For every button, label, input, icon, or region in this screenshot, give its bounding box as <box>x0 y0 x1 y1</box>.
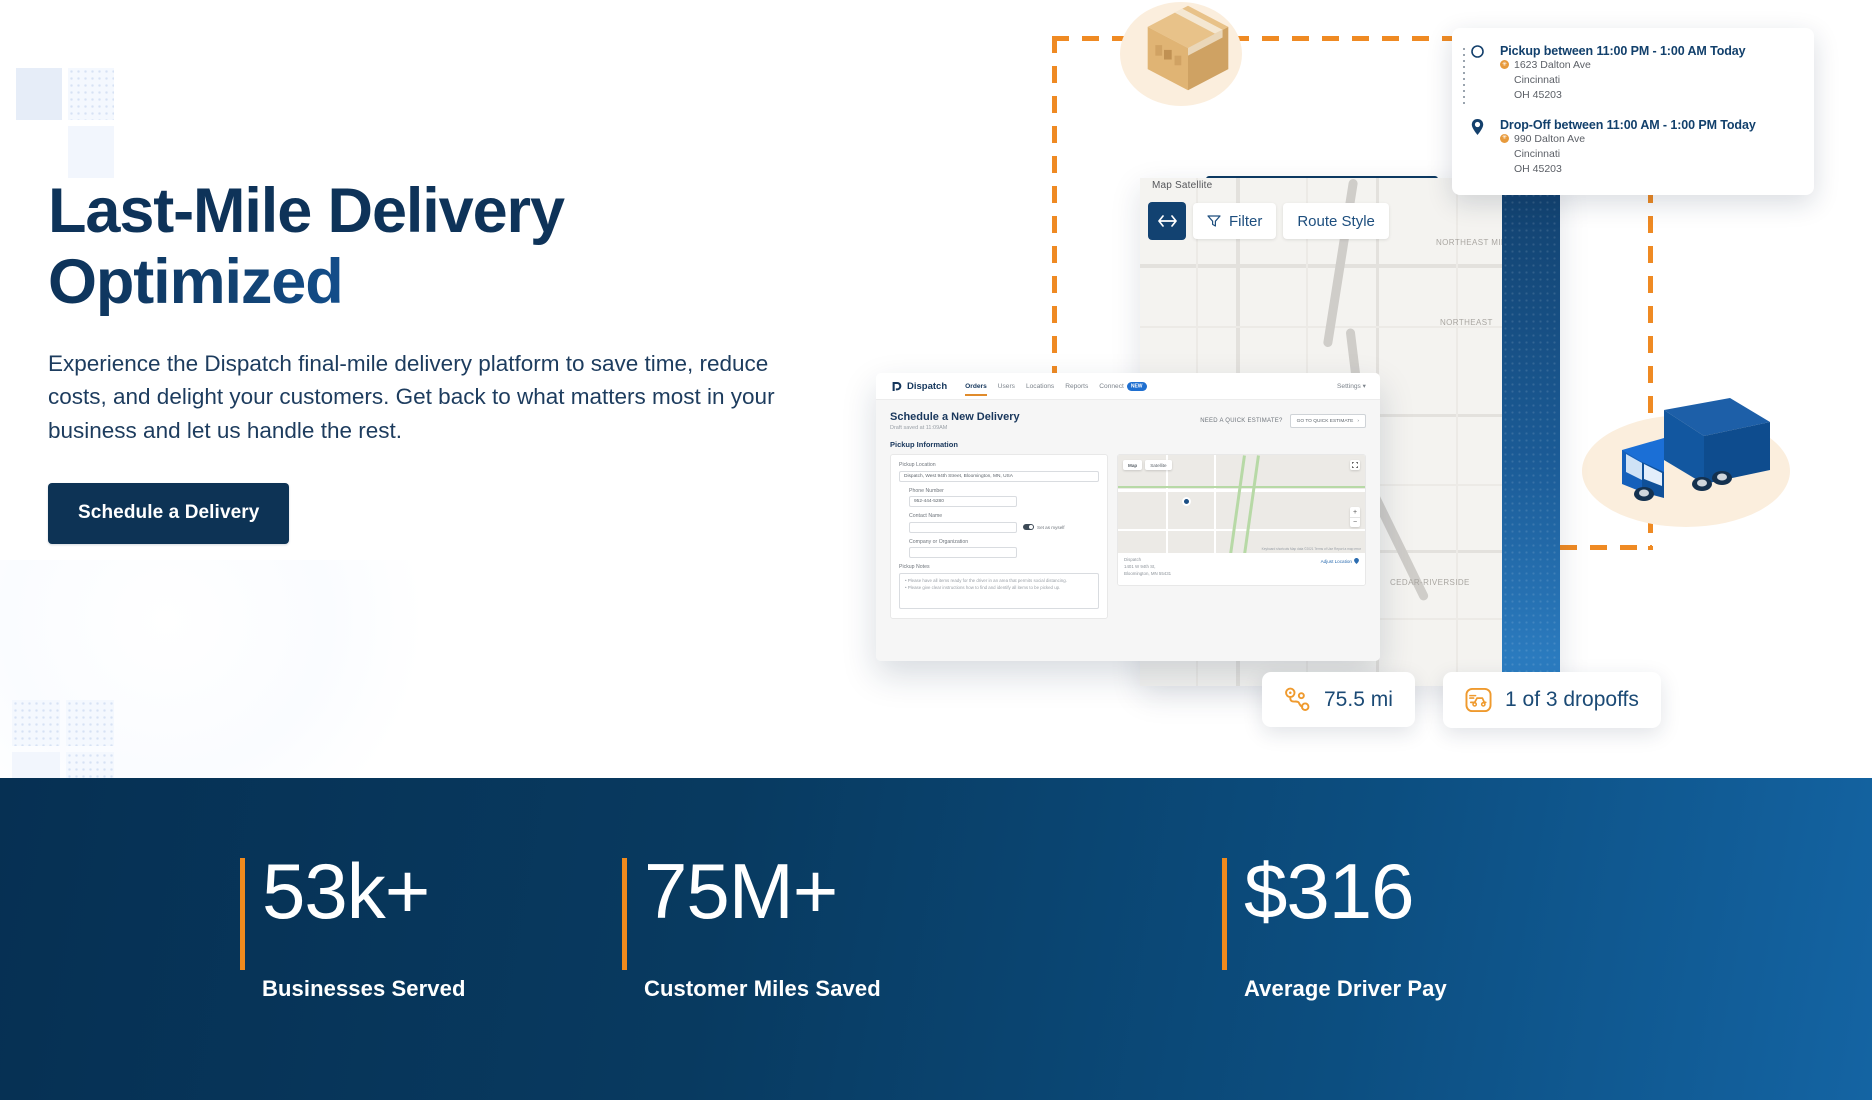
map-road <box>1140 264 1560 268</box>
pickup-title: Pickup between 11:00 PM - 1:00 AM Today <box>1500 44 1796 58</box>
pickup-row: Pickup between 11:00 PM - 1:00 AM Today … <box>1468 44 1796 104</box>
map-pin-icon <box>1354 558 1359 564</box>
dropoffs-value: 1 of 3 dropoffs <box>1505 688 1639 712</box>
decorative-square-dotted <box>12 700 60 746</box>
draft-saved-status: Draft saved at 11:09AM <box>890 425 1020 431</box>
pickup-location-mini-map[interactable]: Map Satellite + − Keyboard shortcuts Map… <box>1117 454 1366 586</box>
delivery-van-icon <box>1465 687 1492 713</box>
address-marker-icon: ✳ <box>1500 134 1509 143</box>
chevron-right-icon: › <box>1357 419 1359 424</box>
decorative-square-dotted <box>66 752 114 778</box>
dropoff-row: Drop-Off between 11:00 AM - 1:00 PM Toda… <box>1468 118 1796 178</box>
pickup-state-zip: OH 45203 <box>1500 88 1796 103</box>
form-columns: Pickup Location Dispatch, West 94th Stre… <box>890 454 1366 619</box>
decorative-square <box>12 752 60 778</box>
stat-value: 75M+ <box>622 852 1142 930</box>
expand-icon[interactable] <box>1350 460 1360 470</box>
zoom-in-button[interactable]: + <box>1350 507 1360 517</box>
pickup-information-form: Pickup Location Dispatch, West 94th Stre… <box>890 454 1108 619</box>
mini-map-footer: Dispatch 1401 W 94th St, Bloomington, MN… <box>1118 553 1365 585</box>
notes-line-1: • Please have all items ready for the dr… <box>905 578 1093 585</box>
contact-name-label: Contact Name <box>909 513 1099 519</box>
brand: Dispatch <box>890 380 947 393</box>
new-badge: NEW <box>1127 382 1147 391</box>
hero-copy: Last-Mile Delivery Optimized Experience … <box>48 176 848 544</box>
tooltip-connector-dots <box>1463 48 1465 106</box>
contact-group: Contact Name Set as myself <box>909 513 1099 533</box>
pickup-location-input[interactable]: Dispatch, West 94th Street, Bloomington,… <box>899 471 1099 482</box>
decorative-square-dotted <box>66 700 114 746</box>
app-header-row: Schedule a New Delivery Draft saved at 1… <box>890 411 1366 431</box>
toggle-switch-icon <box>1023 524 1034 530</box>
circle-pin-icon <box>1470 44 1485 64</box>
company-label: Company or Organization <box>909 539 1099 545</box>
phone-number-input[interactable]: 952-444-5280 <box>909 496 1017 507</box>
mini-map-highway <box>1229 455 1246 554</box>
nav-item-orders[interactable]: Orders <box>965 383 987 390</box>
nav-item-locations[interactable]: Locations <box>1026 383 1054 390</box>
headline-line-2: Optimized <box>48 247 848 318</box>
mini-map-zoom-controls[interactable]: + − <box>1350 507 1360 527</box>
schedule-a-delivery-button[interactable]: Schedule a Delivery <box>48 483 289 544</box>
mini-map-road <box>1118 529 1365 531</box>
stat-value: $316 <box>1222 852 1704 930</box>
nav-item-reports[interactable]: Reports <box>1065 383 1088 390</box>
dropoff-address: ✳ 990 Dalton Ave <box>1500 132 1796 147</box>
quick-estimate-area: NEED A QUICK ESTIMATE? GO TO QUICK ESTIM… <box>1200 411 1366 428</box>
map-tab[interactable]: Map <box>1123 460 1142 470</box>
phone-group: Phone Number 952-444-5280 <box>909 488 1099 508</box>
mini-map-layer-tabs: Map Satellite <box>1123 460 1172 470</box>
stat-businesses-served: 53k+ Businesses Served <box>0 852 562 1100</box>
route-style-button[interactable]: Route Style <box>1283 203 1389 239</box>
app-body: Schedule a New Delivery Draft saved at 1… <box>876 400 1380 661</box>
headline-line-1: Last-Mile Delivery <box>48 176 848 247</box>
map-pin-icon <box>1470 118 1485 141</box>
pickup-location-label: Pickup Location <box>899 462 1099 468</box>
hero-description: Experience the Dispatch final-mile deliv… <box>48 347 808 447</box>
map-gradient-edge <box>1502 178 1560 686</box>
adjust-location-link[interactable]: Adjust Location <box>1321 558 1359 564</box>
mini-map-highway <box>1243 455 1260 554</box>
stat-value: 53k+ <box>240 852 562 930</box>
nav-item-connect[interactable]: ConnectNEW <box>1099 383 1146 390</box>
mini-map-address-1: 1401 W 94th St, <box>1124 564 1359 571</box>
filter-label: Filter <box>1229 213 1262 230</box>
stat-accent-bar <box>1222 858 1227 970</box>
app-nav-links: Orders Users Locations Reports ConnectNE… <box>965 383 1146 390</box>
notes-line-2: • Please give clear instructions how to … <box>905 585 1093 592</box>
quick-estimate-prompt: NEED A QUICK ESTIMATE? <box>1200 418 1282 424</box>
route-distance-value: 75.5 mi <box>1324 688 1393 712</box>
dropoffs-pill: 1 of 3 dropoffs <box>1443 672 1661 728</box>
stat-average-driver-pay: $316 Average Driver Pay <box>1142 852 1704 1100</box>
mini-map-location-pin <box>1182 497 1191 506</box>
stat-label: Customer Miles Saved <box>622 976 1142 1002</box>
delivery-truck-icon <box>1598 388 1778 514</box>
dropoff-city: Cincinnati <box>1500 147 1796 162</box>
pickup-address: ✳ 1623 Dalton Ave <box>1500 58 1796 73</box>
brand-name: Dispatch <box>907 381 947 392</box>
address-marker-icon: ✳ <box>1500 60 1509 69</box>
dropoff-address-text: 990 Dalton Ave <box>1514 133 1585 145</box>
decorative-square <box>68 126 114 178</box>
pickup-information-heading: Pickup Information <box>890 440 1366 449</box>
notes-group: Pickup Notes • Please have all items rea… <box>899 564 1099 609</box>
dispatch-app-mockup[interactable]: Dispatch Orders Users Locations Reports … <box>876 373 1380 661</box>
company-input[interactable] <box>909 547 1017 558</box>
company-group: Company or Organization <box>909 539 1099 559</box>
stat-accent-bar <box>622 858 627 970</box>
mini-map-road <box>1214 455 1216 555</box>
map-area-label: NORTHEAST <box>1440 318 1493 327</box>
map-toolbar: Filter Route Style <box>1148 202 1389 240</box>
map-area-label: CEDAR-RIVERSIDE <box>1390 578 1470 587</box>
stat-label: Businesses Served <box>240 976 562 1002</box>
nav-item-users[interactable]: Users <box>998 383 1015 390</box>
decorative-squares-top-left <box>16 68 126 178</box>
decorative-square-dotted <box>68 68 114 120</box>
cardboard-box-icon <box>1140 0 1236 96</box>
contact-name-input[interactable] <box>909 522 1017 533</box>
pickup-city: Cincinnati <box>1500 73 1796 88</box>
filter-button[interactable]: Filter <box>1193 203 1276 239</box>
go-to-quick-estimate-button[interactable]: GO TO QUICK ESTIMATE › <box>1290 414 1366 428</box>
mini-map-attribution: Keyboard shortcuts Map data ©2021 Terms … <box>1262 547 1361 551</box>
app-navbar: Dispatch Orders Users Locations Reports … <box>876 373 1380 400</box>
resize-map-button[interactable] <box>1148 202 1186 240</box>
mini-map-road <box>1118 489 1365 492</box>
route-icon <box>1284 687 1311 712</box>
mini-map-canvas <box>1118 455 1365 555</box>
delivery-schedule-tooltip: Pickup between 11:00 PM - 1:00 AM Today … <box>1452 28 1814 195</box>
satellite-tab[interactable]: Satellite <box>1145 460 1171 470</box>
mini-map-address-2: Bloomington, MN 55431 <box>1124 571 1359 578</box>
phone-number-label: Phone Number <box>909 488 1099 494</box>
decorative-squares-bottom-left <box>12 700 136 778</box>
pickup-notes-textarea[interactable]: • Please have all items ready for the dr… <box>899 573 1099 609</box>
set-as-myself-toggle[interactable]: Set as myself <box>1023 524 1065 530</box>
route-style-label: Route Style <box>1297 213 1375 230</box>
stat-accent-bar <box>240 858 245 970</box>
page-title: Last-Mile Delivery Optimized <box>48 176 848 317</box>
mini-map-road <box>1166 455 1168 555</box>
pickup-notes-label: Pickup Notes <box>899 564 1099 570</box>
pickup-address-text: 1623 Dalton Ave <box>1514 59 1591 71</box>
stats-band: 53k+ Businesses Served 75M+ Customer Mil… <box>0 778 1872 1100</box>
dispatch-logo-icon <box>890 380 903 393</box>
decorative-square <box>16 68 62 120</box>
dropoff-title: Drop-Off between 11:00 AM - 1:00 PM Toda… <box>1500 118 1796 132</box>
dropoff-state-zip: OH 45203 <box>1500 162 1796 177</box>
funnel-icon <box>1207 214 1221 228</box>
map-mode-label: Map Satellite <box>1152 180 1212 191</box>
route-distance-pill: 75.5 mi <box>1262 672 1415 727</box>
stat-customer-miles-saved: 75M+ Customer Miles Saved <box>562 852 1142 1100</box>
map-road <box>1456 178 1458 686</box>
settings-menu[interactable]: Settings ▾ <box>1337 382 1366 390</box>
left-right-arrows-icon <box>1158 215 1177 227</box>
stat-label: Average Driver Pay <box>1222 976 1704 1002</box>
nav-item-connect-label: Connect <box>1099 383 1124 390</box>
hero-section: Last-Mile Delivery Optimized Experience … <box>0 0 1872 778</box>
zoom-out-button[interactable]: − <box>1350 517 1360 527</box>
app-page-title: Schedule a New Delivery <box>890 411 1020 423</box>
set-as-myself-label: Set as myself <box>1037 525 1065 530</box>
